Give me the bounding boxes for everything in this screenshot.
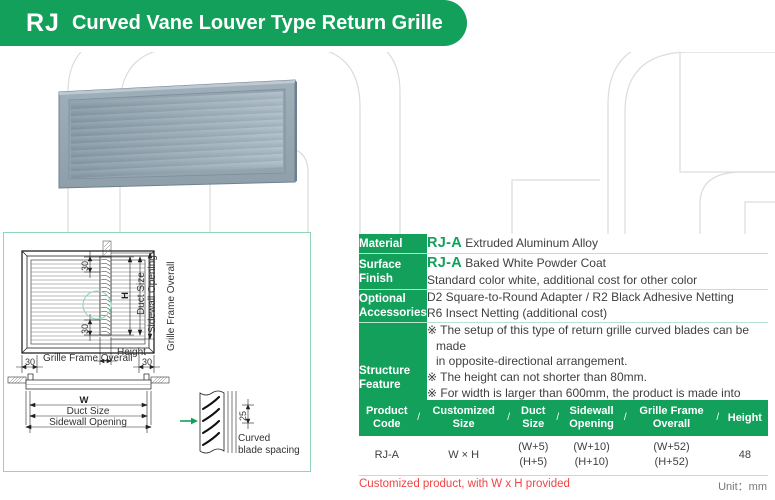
structure-feature-label-line1: Structure (359, 364, 427, 378)
code-col-sep-2: / (505, 400, 513, 436)
material-text: Extruded Aluminum Alloy (465, 236, 598, 250)
code-col-sep-4: / (621, 400, 629, 436)
product-series-code: RJ (26, 9, 60, 38)
product-photo (57, 78, 297, 198)
code-col-sep-3: / (554, 400, 562, 436)
blade-spacing-value: 25 (238, 411, 248, 421)
spec-row-optional-accessories: Optional Accessories D2 Square-to-Round … (359, 290, 768, 323)
product-code-table: Product Code / Customized Size / Duct Si… (359, 400, 768, 476)
code-cell-product-code: RJ-A (359, 436, 415, 475)
code-col-sidewall-opening: Sidewall Opening (562, 400, 621, 436)
spec-value-surface-finish: RJ-A Baked White Powder Coat Standard co… (427, 254, 768, 290)
code-col-duct-size: Duct Size (513, 400, 554, 436)
col1-line1: Customized (424, 405, 504, 418)
vertical-top-margin-value: 30 (80, 261, 90, 271)
cell2-line1: (W+5) (514, 440, 553, 454)
airflow-arrow (180, 418, 198, 425)
code-cell-duct-size: (W+5) (H+5) (513, 436, 554, 475)
spec-label-material: Material (359, 234, 427, 254)
blade-detail-label-line1: Curved (238, 433, 270, 444)
spec-label-surface-finish: Surface Finish (359, 254, 427, 290)
code-cell-sep-4 (621, 436, 629, 475)
code-cell-sep-2 (505, 436, 513, 475)
surface-finish-text: Baked White Powder Coat (465, 256, 606, 270)
col5-line1: Height (723, 412, 767, 425)
cell4-line2: (H+52) (630, 455, 712, 469)
code-col-sep-5: / (714, 400, 722, 436)
curved-blade-detail: 25 Curved blade spacing (180, 391, 300, 456)
section-sidewall-opening-label: Sidewall Opening (49, 417, 127, 428)
optional-accessories-text: D2 Square-to-Round Adapter / R2 Black Ad… (427, 290, 768, 306)
vertical-height-label: Height (117, 347, 146, 358)
front-left-margin-value: 30 (25, 357, 35, 367)
vertical-duct-size-label: Duct Size (136, 272, 147, 315)
col0-line2: Code (360, 418, 414, 431)
optional-accessories-extra: R6 Insect Netting (additional cost) (427, 306, 768, 322)
code-col-height: Height (722, 400, 768, 436)
code-cell-height: 48 (722, 436, 768, 475)
front-view-side-label: Grille Frame Overall (166, 262, 177, 351)
vertical-sidewall-opening-label: Sidewall Opening (147, 255, 158, 333)
code-col-sep-1: / (415, 400, 423, 436)
vertical-bottom-margin-value: 30 (80, 324, 90, 334)
code-table-header-row: Product Code / Customized Size / Duct Si… (359, 400, 768, 436)
code-cell-grille-frame-overall: (W+52) (H+52) (629, 436, 713, 475)
code-cell-sep-3 (554, 436, 562, 475)
unit-note: Unit：mm (718, 478, 767, 494)
front-right-margin-value: 30 (142, 357, 152, 367)
technical-drawing-panel: 30 30 Grille Frame Overall Grille Frame … (3, 232, 311, 472)
col0-line1: Product (360, 405, 414, 418)
col4-line2: Overall (630, 418, 712, 431)
cell3-line2: (H+10) (563, 455, 620, 469)
page-header-banner: RJ Curved Vane Louver Type Return Grille (0, 0, 467, 46)
structure-feature-bullet-1: ※ The setup of this type of return grill… (427, 323, 768, 355)
cell0-line1: RJ-A (360, 448, 414, 462)
cell2-line2: (H+5) (514, 455, 553, 469)
code-col-customized-size: Customized Size (423, 400, 505, 436)
page-title: Curved Vane Louver Type Return Grille (72, 12, 443, 35)
surface-finish-label-line2: Finish (359, 272, 427, 286)
code-cell-sep-5 (714, 436, 722, 475)
cell1-line1: W × H (424, 448, 504, 462)
col3-line1: Sidewall (563, 405, 620, 418)
spec-value-material: RJ-A Extruded Aluminum Alloy (427, 234, 768, 254)
code-cell-customized-size: W × H (423, 436, 505, 475)
section-w-label: W (80, 395, 89, 406)
surface-finish-code: RJ-A (427, 255, 462, 271)
surface-finish-extra: Standard color white, additional cost fo… (427, 273, 768, 289)
code-table-row: RJ-A W × H (W+5) (H+5) (W+10) (H+10) (W+… (359, 436, 768, 475)
material-code: RJ-A (427, 235, 462, 251)
optional-accessories-label-line2: Accessories (359, 306, 427, 320)
col2-line2: Size (514, 418, 553, 431)
spec-row-material: Material RJ-A Extruded Aluminum Alloy (359, 234, 768, 254)
code-col-grille-frame-overall: Grille Frame Overall (629, 400, 713, 436)
blade-detail-label-line2: blade spacing (238, 445, 300, 456)
customized-product-note: Customized product, with W x H provided (359, 478, 570, 490)
structure-feature-label-line2: Feature (359, 378, 427, 392)
code-cell-sidewall-opening: (W+10) (H+10) (562, 436, 621, 475)
col3-line2: Opening (563, 418, 620, 431)
col2-line1: Duct (514, 405, 553, 418)
structure-feature-bullet-1-cont: in opposite-directional arrangement. (427, 354, 768, 370)
cell5-line1: 48 (723, 448, 767, 462)
code-col-product-code: Product Code (359, 400, 415, 436)
spec-row-surface-finish: Surface Finish RJ-A Baked White Powder C… (359, 254, 768, 290)
cell4-line1: (W+52) (630, 440, 712, 454)
col4-line1: Grille Frame (630, 405, 712, 418)
vertical-h-label: H (120, 292, 131, 299)
code-cell-sep-1 (415, 436, 423, 475)
spec-value-optional-accessories: D2 Square-to-Round Adapter / R2 Black Ad… (427, 290, 768, 323)
cell3-line1: (W+10) (563, 440, 620, 454)
section-duct-size-label: Duct Size (67, 406, 110, 417)
spec-label-optional-accessories: Optional Accessories (359, 290, 427, 323)
structure-feature-bullet-2: ※ The height can not shorter than 80mm. (427, 370, 768, 386)
optional-accessories-label-line1: Optional (359, 292, 427, 306)
col1-line2: Size (424, 418, 504, 431)
surface-finish-label-line1: Surface (359, 258, 427, 272)
